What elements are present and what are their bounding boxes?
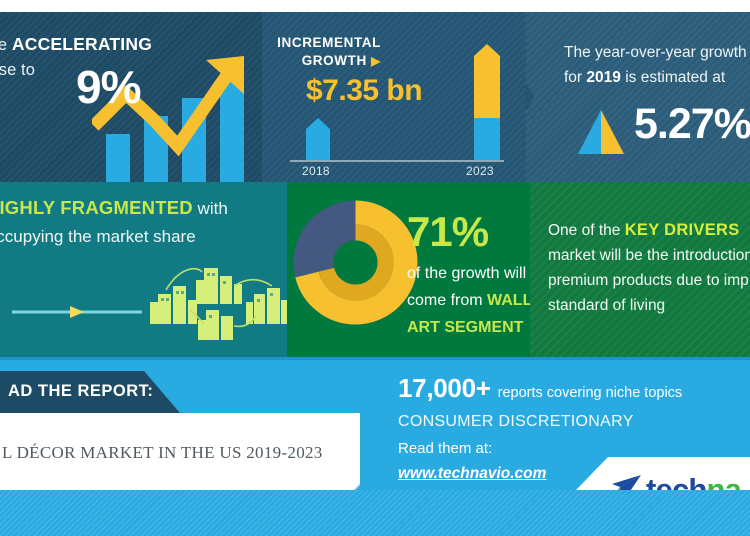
- read-the-report-label: AD THE REPORT:: [8, 382, 153, 401]
- incremental-growth-label: INCREMENTAL GROWTH ▶: [277, 34, 381, 70]
- key-drivers-description: One of the KEY DRIVERS market will be th…: [548, 218, 750, 318]
- drivers-line1-pre: One of the: [548, 222, 625, 239]
- wall-art-donut-chart: [293, 200, 418, 325]
- report-category: CONSUMER DISCRETIONARY: [398, 408, 738, 436]
- fragmented-market-illustration: [0, 266, 287, 356]
- panel-yoy-growth: The year-over-year growth for 2019 is es…: [526, 12, 750, 182]
- yoy-line2-pre: for: [564, 69, 586, 86]
- infographic-canvas: et will be ACCELERATING R of close to 9%…: [0, 0, 750, 536]
- footer-cta: AD THE REPORT: L DÉCOR MARKET IN THE US …: [0, 357, 750, 536]
- incremental-label-line2: GROWTH: [302, 53, 367, 68]
- incremental-axis-line: [290, 160, 504, 162]
- bar-2023: [474, 44, 500, 160]
- bar-2018: [306, 118, 330, 160]
- report-title: L DÉCOR MARKET IN THE US 2019-2023: [2, 443, 323, 463]
- wall-art-description: of the growth will come from WALL ART SE…: [407, 260, 530, 341]
- chevron-right-icon: [526, 52, 534, 142]
- footer-top-divider: [0, 357, 750, 360]
- incremental-growth-value: $7.35 bn: [306, 74, 422, 108]
- cagr-line1-pre: et will be: [0, 36, 12, 54]
- panel-cagr: et will be ACCELERATING R of close to 9%: [0, 12, 262, 182]
- cagr-line2: R of close to: [0, 61, 35, 79]
- year-label-2018: 2018: [302, 164, 330, 178]
- yoy-description: The year-over-year growth for 2019 is es…: [564, 40, 750, 90]
- yoy-line1: The year-over-year growth: [564, 44, 747, 61]
- reports-caption: reports covering niche topics: [498, 385, 683, 401]
- panel-key-drivers: One of the KEY DRIVERS market will be th…: [530, 182, 750, 357]
- fragmented-line1-post: with: [193, 199, 228, 218]
- yoy-value: 5.27%: [634, 100, 750, 149]
- panel-wall-art: 71% of the growth will come from WALL AR…: [287, 182, 530, 357]
- row-market-insights: et is HIGHLY FRAGMENTED with yers occupy…: [0, 182, 750, 357]
- fragmented-line2: yers occupying the market share: [0, 227, 196, 246]
- cagr-line1-bold: ACCELERATING: [12, 34, 152, 54]
- read-the-report-banner: AD THE REPORT:: [0, 371, 180, 413]
- drivers-line1-bold: KEY DRIVERS: [625, 221, 740, 239]
- drivers-line2: market will be the introduction: [548, 247, 750, 264]
- reports-count-line: 17,000+reports covering niche topics: [398, 373, 738, 408]
- incremental-label-line1: INCREMENTAL: [277, 35, 381, 50]
- drivers-line4: standard of living: [548, 297, 665, 314]
- drivers-line3: premium products due to imp: [548, 272, 749, 289]
- top-white-strip: [0, 0, 750, 12]
- fragmented-description: et is HIGHLY FRAGMENTED with yers occupy…: [0, 194, 287, 251]
- panel-incremental-growth: INCREMENTAL GROWTH ▶ $7.35 bn 2018 2023: [262, 12, 526, 182]
- wall-art-line2-pre: come from: [407, 292, 487, 309]
- cagr-value: 9%: [76, 64, 140, 110]
- yoy-year: 2019: [586, 69, 620, 86]
- yoy-line2-post: is estimated at: [621, 69, 725, 86]
- fragmented-line1-bold: HIGHLY FRAGMENTED: [0, 197, 193, 218]
- play-triangle-icon: ▶: [371, 54, 381, 68]
- triangle-up-icon: [574, 110, 628, 154]
- year-label-2023: 2023: [466, 164, 494, 178]
- row-market-stats: et will be ACCELERATING R of close to 9%…: [0, 12, 750, 182]
- reports-count: 17,000+: [398, 373, 491, 403]
- panel-fragmented: et is HIGHLY FRAGMENTED with yers occupy…: [0, 182, 287, 357]
- wall-art-line2-bold: WALL: [487, 292, 530, 309]
- footer-texture-strip: [0, 490, 750, 536]
- wall-art-line1: of the growth will: [407, 265, 526, 282]
- wall-art-line3-bold: ART SEGMENT: [407, 319, 523, 336]
- wall-art-percent: 71%: [407, 208, 488, 256]
